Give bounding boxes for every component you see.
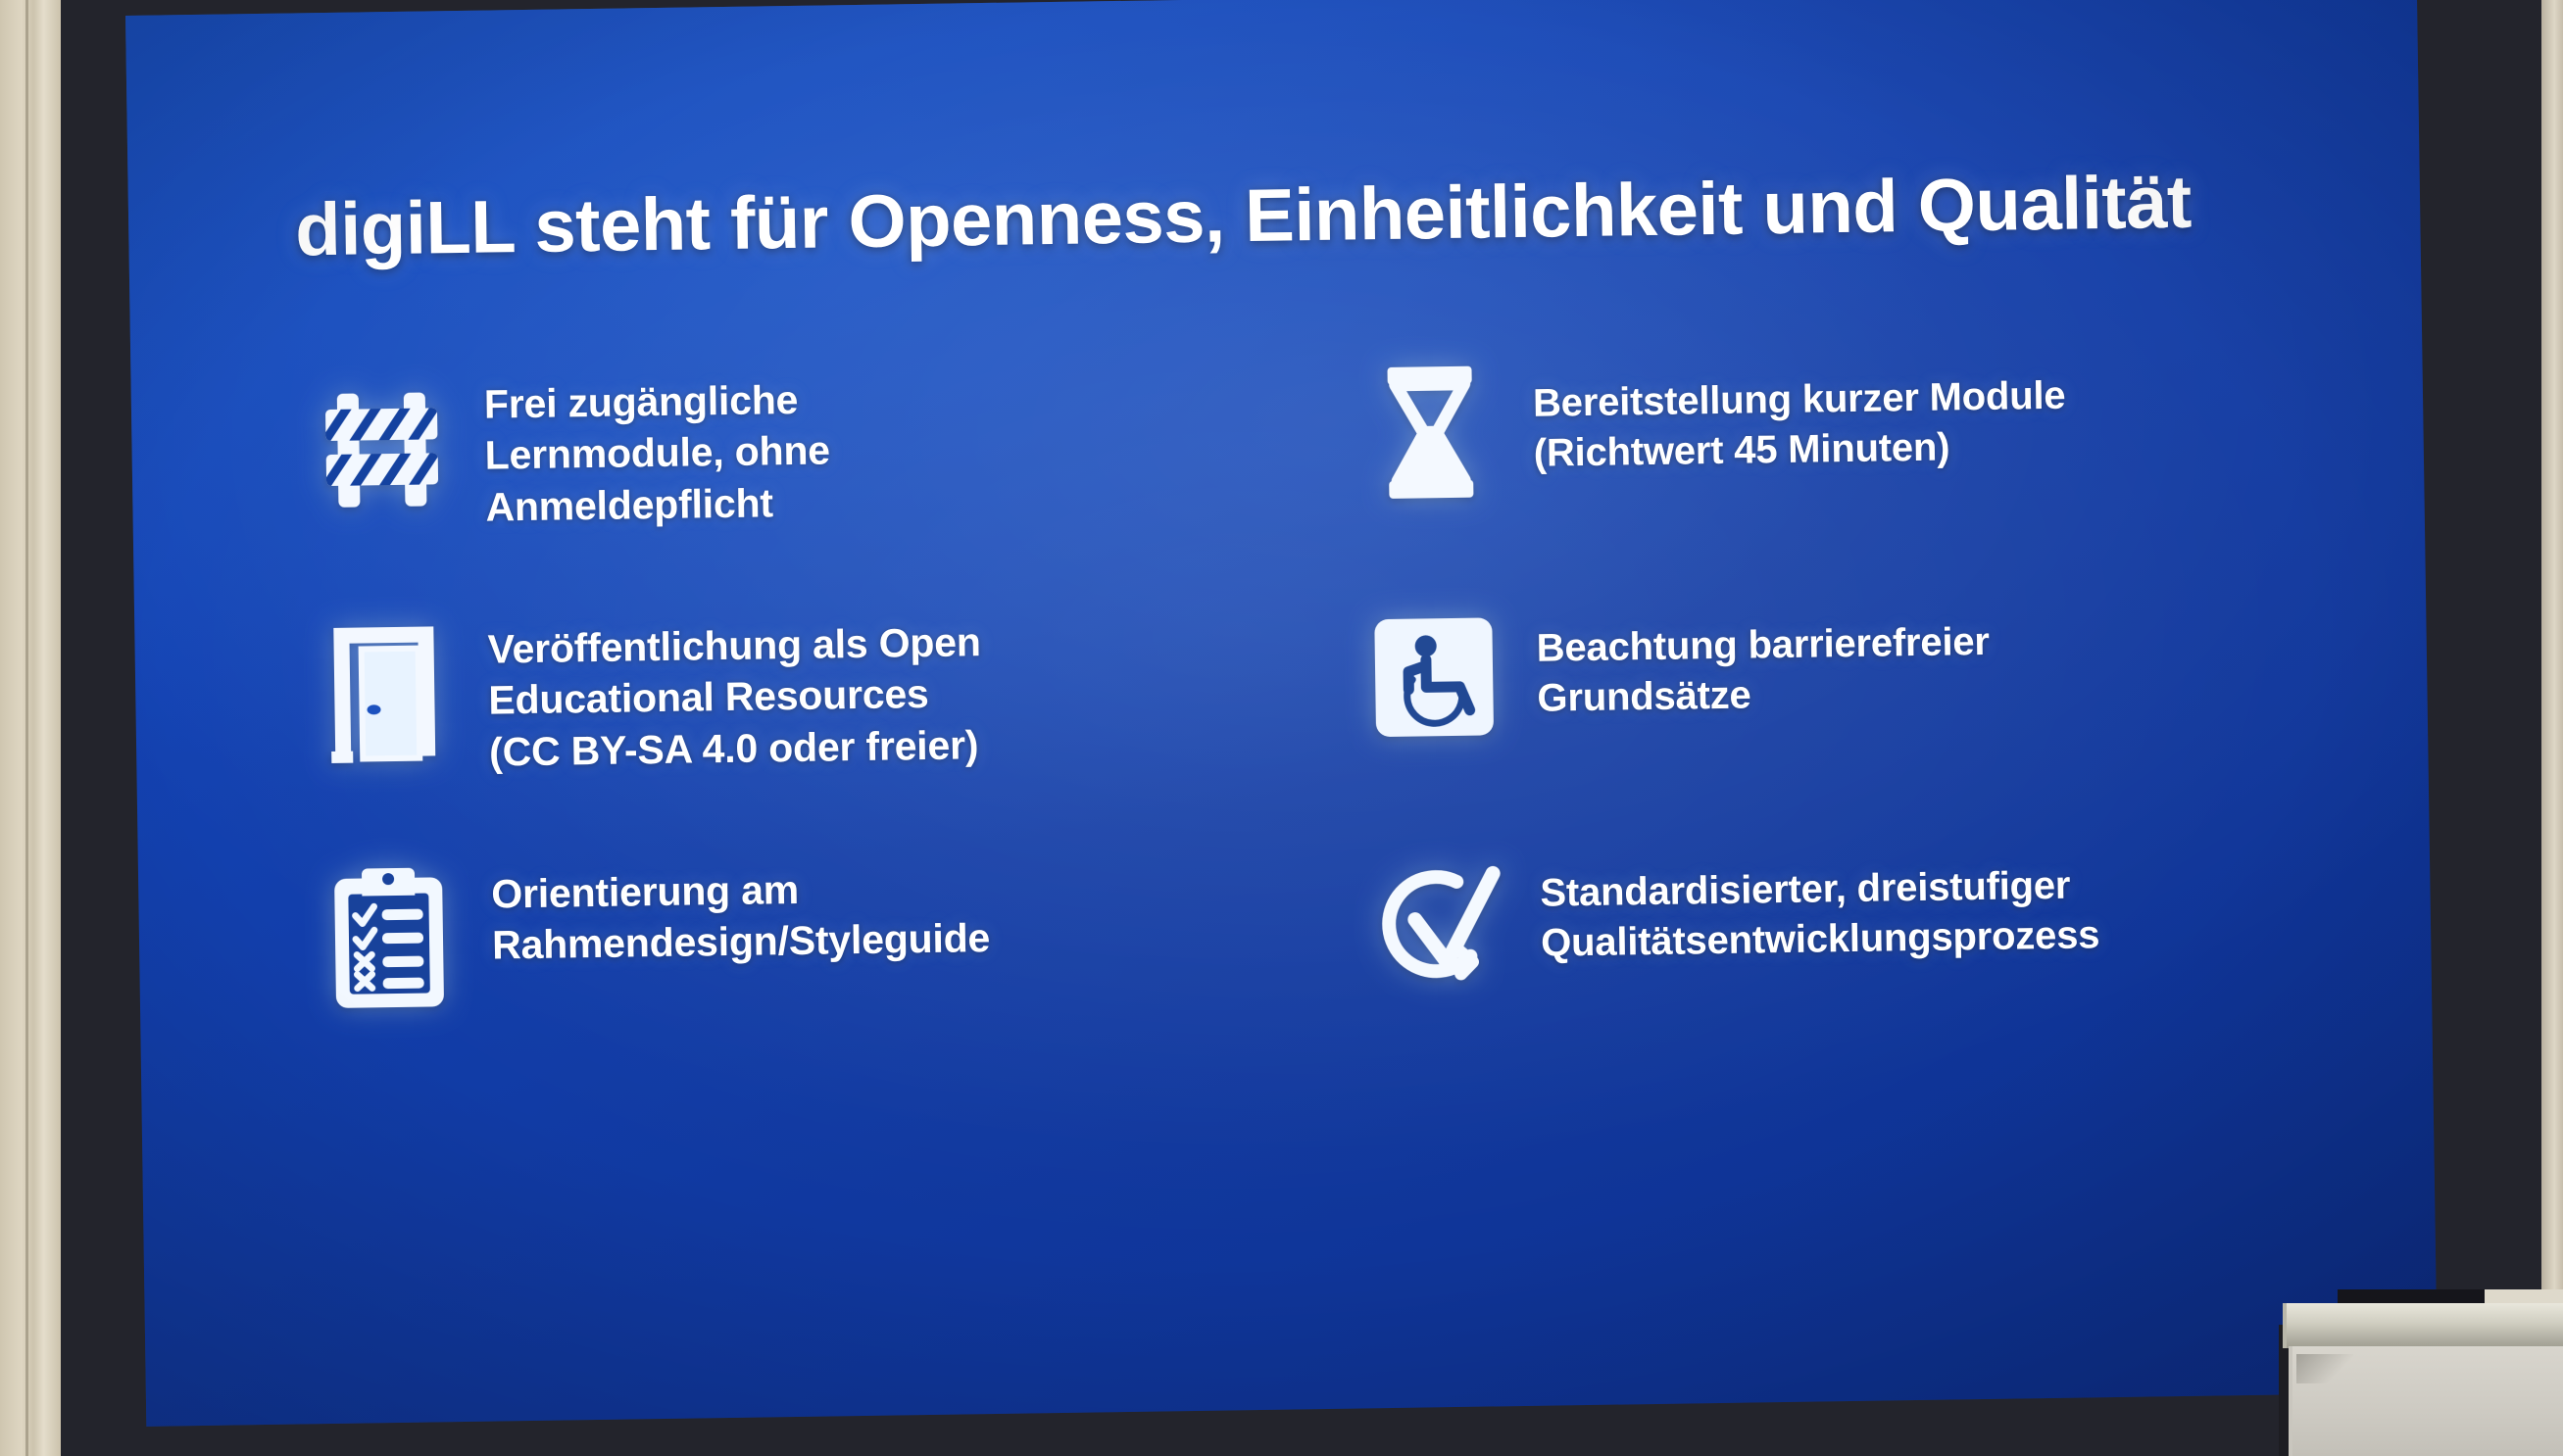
feature-item-oer: Veröffentlichung als Open Educational Re… [281,587,1275,847]
feature-item-short-modules: Bereitstellung kurzer Module (Richtwert … [1306,326,2300,586]
wall-left [0,0,61,1456]
feature-text-short-modules: Bereitstellung kurzer Module (Richtwert … [1532,330,2066,479]
feature-item-styleguide: Orientierung am Rahmendesign/Styleguide [285,832,1279,1092]
hourglass-icon [1326,338,1535,527]
feature-item-quality-process: Standardisierter, dreistufiger Qualitäts… [1313,816,2307,1076]
road-barrier-icon [277,354,486,543]
check-cycle-icon [1333,828,1542,1017]
feature-line: Beachtung barrierefreier [1536,617,1990,674]
slide-title: digiLL steht für Openness, Einheitlichke… [295,163,2256,269]
presentation-slide: digiLL steht für Openness, Einheitlichke… [125,0,2438,1427]
feature-line: Educational Resources [488,668,982,727]
feature-text-open-access: Frei zugängliche Lernmodule, ohne Anmeld… [483,348,831,533]
feature-item-accessibility: Beachtung barrierefreier Grundsätze [1310,571,2304,831]
feature-line: Frei zugängliche [484,373,830,430]
feature-line: Bereitstellung kurzer Module [1533,371,2066,429]
feature-grid: Frei zugängliche Lernmodule, ohne Anmeld… [277,326,2307,1091]
wall-right [2541,0,2563,1456]
feature-line: Grundsätze [1537,667,1991,724]
feature-item-open-access: Frei zugängliche Lernmodule, ohne Anmeld… [277,342,1271,602]
flipchart-rail [2283,1303,2563,1348]
feature-text-styleguide: Orientierung am Rahmendesign/Styleguide [491,836,991,971]
wall-seam [25,0,28,1456]
flipchart-paper-fold [2296,1354,2353,1383]
feature-text-quality-process: Standardisierter, dreistufiger Qualitäts… [1539,819,2099,969]
feature-text-oer: Veröffentlichung als Open Educational Re… [487,591,983,778]
projected-slide-wrapper: digiLL steht für Openness, Einheitlichke… [125,0,2438,1427]
clipboard-checklist-icon [285,844,494,1033]
feature-line: Rahmendesign/Styleguide [492,912,991,971]
feature-line: (Richtwert 45 Minuten) [1533,421,2066,479]
feature-line: Orientierung am [491,861,990,920]
wheelchair-accessibility-icon [1330,583,1539,772]
feature-line: (CC BY-SA 4.0 oder freier) [489,719,983,778]
feature-line: Anmeldepflicht [485,476,831,533]
open-door-icon [281,599,490,788]
feature-line: Lernmodule, ohne [484,425,830,482]
feature-text-accessibility: Beachtung barrierefreier Grundsätze [1536,576,1991,724]
feature-line: Qualitätsentwicklungsprozess [1541,910,2100,969]
feature-line: Standardisierter, dreistufiger [1540,860,2099,919]
photo-scene: digiLL steht für Openness, Einheitlichke… [0,0,2563,1456]
feature-line: Veröffentlichung als Open [487,616,981,675]
flipchart-foreground [2279,1289,2563,1456]
